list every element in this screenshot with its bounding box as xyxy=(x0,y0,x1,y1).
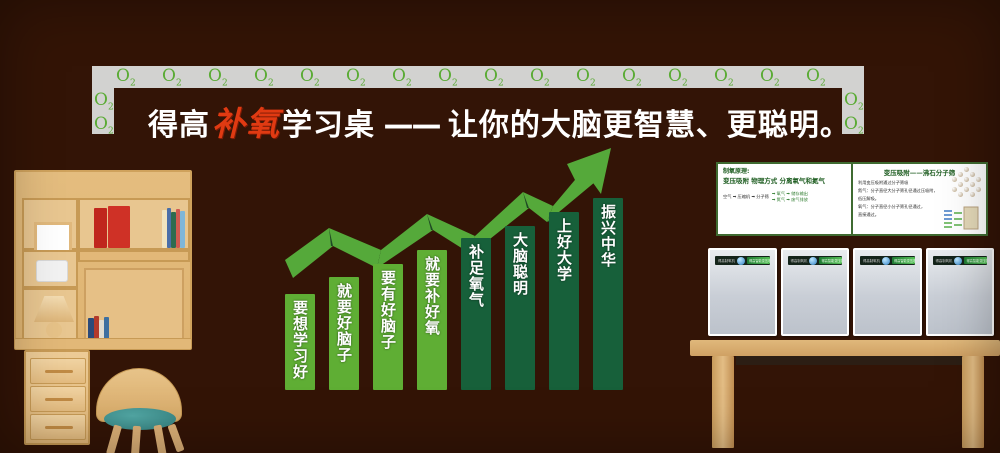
o2-symbol: O2 xyxy=(438,68,458,92)
table-under-shadow xyxy=(736,356,966,365)
title-part2: 学习桌 xyxy=(282,108,375,143)
book-lightblue xyxy=(180,211,185,248)
message-bar-label: 补足氧气 xyxy=(467,244,485,308)
globe-icon xyxy=(954,257,962,265)
zeolite-atom xyxy=(970,172,975,177)
page-title: 得高补氧学习桌 —— 让你的大脑更智慧、更聪明。 xyxy=(148,104,851,146)
o2-symbol: O2 xyxy=(94,116,114,140)
message-bar: 就要好脑子 xyxy=(329,277,359,390)
shelf-cell-books-top xyxy=(78,198,190,250)
o2-symbol: O2 xyxy=(714,68,734,92)
principle-flow-out-2: ➡ 氮气 ➡ 废气排放 xyxy=(772,197,808,203)
machine-brand-label: 得高制氧机得高智能变压吸附制氧机 xyxy=(788,256,843,265)
desk-drawer-pedestal xyxy=(24,350,90,445)
oxygen-concentrator-unit[interactable]: 得高制氧机得高智能变压吸附制氧机 xyxy=(853,248,922,336)
principle-title: 制氧原理: xyxy=(723,168,846,176)
o2-symbol: O2 xyxy=(116,68,136,92)
message-bar-label: 上好大学 xyxy=(555,218,573,282)
o2-symbol: O2 xyxy=(806,68,826,92)
globe-icon xyxy=(882,257,890,265)
shelf-cell-clock xyxy=(22,250,78,288)
machine-brand-left: 得高制氧机 xyxy=(788,258,808,263)
oxygen-concentrator-units: 得高制氧机得高智能变压吸附制氧机得高制氧机得高智能变压吸附制氧机得高制氧机得高智… xyxy=(708,248,994,336)
book-red-1 xyxy=(94,208,107,248)
machine-brand-left: 得高制氧机 xyxy=(933,258,953,263)
o2-symbol: O2 xyxy=(576,68,596,92)
machine-brand-label: 得高制氧机得高智能变压吸附制氧机 xyxy=(860,256,915,265)
oxygen-principle-panel: 制氧原理: 变压吸附 物理方式 分离氧气和氮气 空气 ➡ 压缩机 ➡ 分子筛 ➡… xyxy=(718,164,851,234)
zeolite-panel: 变压吸附——沸石分子筛 利用变压吸附通过分子筛吸 氮气：分子直径大分子筛孔径通过… xyxy=(851,164,986,234)
principle-flow-in: 空气 ➡ 压缩机 ➡ 分子筛 xyxy=(723,194,769,200)
zeolite-atom xyxy=(958,192,963,197)
zeolite-molecule-icon xyxy=(952,167,982,197)
shelf-cell-lamp xyxy=(22,288,78,344)
title-highlight: 补氧 xyxy=(210,104,282,143)
o2-symbol: O2 xyxy=(346,68,366,92)
machine-brand-right: 得高智能变压吸附制氧机 xyxy=(892,257,915,264)
o2-symbol: O2 xyxy=(300,68,320,92)
zeolite-atom xyxy=(964,167,969,172)
desk-hutch xyxy=(14,170,192,342)
zeolite-atom xyxy=(958,172,963,177)
message-bar-label: 就要补好氧 xyxy=(423,256,441,336)
globe-icon xyxy=(737,257,745,265)
oxygen-concentrator-unit[interactable]: 得高制氧机得高智能变压吸附制氧机 xyxy=(926,248,995,336)
title-dash: —— xyxy=(375,108,448,143)
o2-symbol: O2 xyxy=(94,92,114,116)
o2-symbol: O2 xyxy=(622,68,642,92)
message-bar: 大脑聪明 xyxy=(505,226,535,390)
machine-brand-left: 得高制氧机 xyxy=(860,258,880,263)
zeolite-atom xyxy=(964,187,969,192)
study-desk-with-hutch xyxy=(14,170,192,453)
message-bar: 要有好脑子 xyxy=(373,264,403,390)
desk-surface xyxy=(14,338,192,350)
display-table-top xyxy=(690,340,1000,356)
shelf-cell-photo xyxy=(22,198,78,250)
message-bar-label: 大脑聪明 xyxy=(511,232,529,296)
message-bar-chart: 要想学习好就要好脑子要有好脑子就要补好氧补足氧气大脑聪明上好大学振兴中华 xyxy=(285,230,635,390)
book-red-2 xyxy=(108,206,130,248)
title-part1: 得高 xyxy=(148,108,210,143)
machine-brand-right: 得高智能变压吸附制氧机 xyxy=(747,257,770,264)
machine-brand-left: 得高制氧机 xyxy=(715,258,735,263)
table-leg-right xyxy=(962,356,984,448)
o2-symbol: O2 xyxy=(392,68,412,92)
machine-brand-right: 得高智能变压吸附制氧机 xyxy=(964,257,987,264)
message-bar: 就要补好氧 xyxy=(417,250,447,390)
zeolite-atom xyxy=(958,182,963,187)
chair-leg-2 xyxy=(131,426,141,453)
principle-subtitle: 变压吸附 物理方式 分离氧气和氮气 xyxy=(723,177,846,186)
machine-brand-label: 得高制氧机得高智能变压吸附制氧机 xyxy=(715,256,770,265)
message-bar: 振兴中华 xyxy=(593,198,623,390)
zeolite-atom xyxy=(964,177,969,182)
o2-symbol: O2 xyxy=(668,68,688,92)
poster-canvas: O2O2O2O2O2O2O2O2O2O2O2O2O2O2O2O2O2O2O2O2… xyxy=(0,0,1000,453)
table-leg-left xyxy=(712,356,734,448)
drawer-3[interactable] xyxy=(30,414,86,440)
zeolite-atom xyxy=(970,182,975,187)
info-panel-row: 制氧原理: 变压吸附 物理方式 分离氧气和氮气 空气 ➡ 压缩机 ➡ 分子筛 ➡… xyxy=(716,162,988,236)
o2-symbol: O2 xyxy=(208,68,228,92)
table-lamp-shade xyxy=(34,296,74,322)
message-bar-label: 振兴中华 xyxy=(599,204,617,268)
hutch-ledge xyxy=(78,250,190,262)
message-bar: 上好大学 xyxy=(549,212,579,390)
zeolite-atom xyxy=(976,177,981,182)
title-part3: 让你的大脑更智慧、更聪明。 xyxy=(448,108,851,143)
message-bar: 补足氧气 xyxy=(461,238,491,390)
message-bar: 要想学习好 xyxy=(285,294,315,390)
drawer-2[interactable] xyxy=(30,386,86,412)
message-bar-label: 要有好脑子 xyxy=(379,270,397,350)
message-bar-label: 要想学习好 xyxy=(291,300,309,380)
zeolite-atom xyxy=(970,192,975,197)
chair-leg-3 xyxy=(153,425,166,453)
drawer-handle-icon xyxy=(45,398,73,401)
machine-brand-label: 得高制氧机得高智能变压吸附制氧机 xyxy=(933,256,988,265)
table-lamp-base xyxy=(46,322,62,338)
machine-brand-right: 得高智能变压吸附制氧机 xyxy=(819,257,842,264)
o2-symbol: O2 xyxy=(484,68,504,92)
chair-leg-1 xyxy=(106,424,122,453)
globe-icon xyxy=(809,257,817,265)
oxygen-concentrator-unit[interactable]: 得高制氧机得高智能变压吸附制氧机 xyxy=(708,248,777,336)
oxygen-concentrator-unit[interactable]: 得高制氧机得高智能变压吸附制氧机 xyxy=(781,248,850,336)
gas-flow-diagram xyxy=(942,205,982,231)
message-bar-label: 就要好脑子 xyxy=(335,283,353,363)
o2-symbol: O2 xyxy=(254,68,274,92)
zeolite-atom xyxy=(976,187,981,192)
o2-symbol: O2 xyxy=(162,68,182,92)
drawer-1[interactable] xyxy=(30,358,86,384)
desk-clock xyxy=(36,260,68,282)
o2-symbol: O2 xyxy=(760,68,780,92)
zeolite-atom xyxy=(952,177,957,182)
drawer-handle-icon xyxy=(45,370,73,373)
o2-symbol: O2 xyxy=(530,68,550,92)
chair-leg-4 xyxy=(167,423,184,452)
desk-backboard xyxy=(84,268,184,342)
drawer-handle-icon xyxy=(45,426,73,429)
zeolite-atom xyxy=(952,187,957,192)
